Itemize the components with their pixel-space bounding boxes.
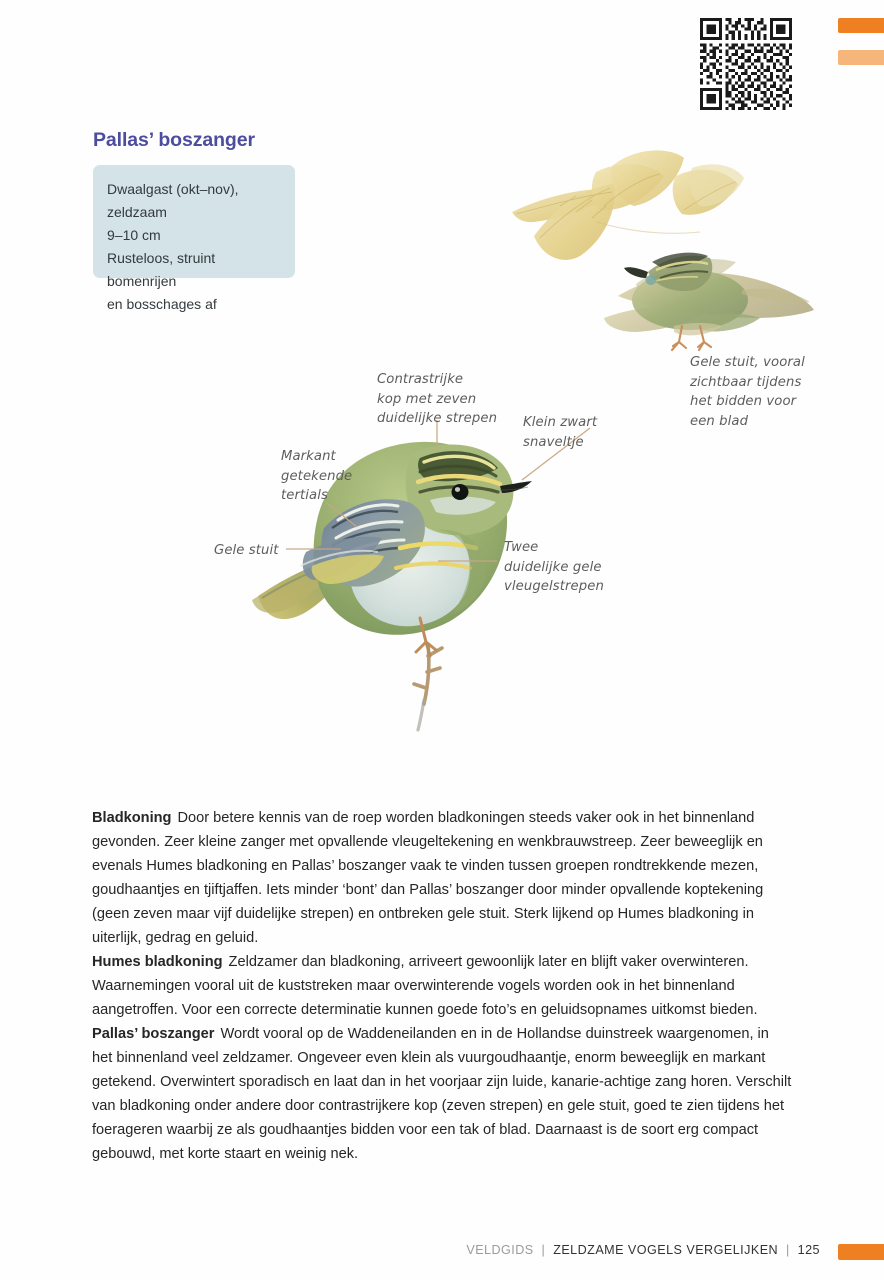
annotation-wingbars-line-1: Twee (504, 540, 538, 555)
annotation-rump-hovering: Gele stuit, vooral zichtbaar tijdens het… (690, 353, 805, 431)
info-line-size: 9–10 cm (107, 224, 281, 247)
species-info-box: Dwaalgast (okt–nov), zeldzaam 9–10 cm Ru… (93, 165, 295, 278)
annotation-head-stripes-line-1: Contrastrijke (377, 372, 463, 387)
paragraph-humes-bladkoning: Humes bladkoningZeldzamer dan bladkoning… (92, 950, 792, 1022)
annotation-wingbars-line-2: duidelijke gele (504, 560, 602, 575)
annotation-tertials-line-3: tertials (281, 488, 328, 503)
paragraph-bladkoning-body: Door betere kennis van de roep worden bl… (92, 810, 763, 946)
annotation-rump-hovering-line-4: een blad (690, 414, 748, 429)
footer-breadcrumb: VELDGIDS | ZELDZAME VOGELS VERGELIJKEN |… (466, 1243, 820, 1257)
annotation-tertials-line-2: getekende (281, 469, 352, 484)
paragraph-pallas-boszanger-lead: Pallas’ boszanger (92, 1026, 214, 1042)
annotation-tertials-line-1: Markant (281, 449, 336, 464)
page-footer: VELDGIDS | ZELDZAME VOGELS VERGELIJKEN |… (0, 1243, 884, 1263)
species-comparison-text: BladkoningDoor betere kennis van de roep… (92, 806, 792, 1166)
annotation-bill-line-1: Klein zwart (523, 415, 597, 430)
autumn-leaves-illustration (512, 150, 744, 259)
annotation-wingbars-line-3: vleugelstrepen (504, 579, 604, 594)
hovering-bird-illustration (604, 253, 814, 350)
annotation-tertials: Markant getekende tertials (281, 447, 352, 506)
paragraph-pallas-boszanger: Pallas’ boszangerWordt vooral op de Wadd… (92, 1022, 792, 1166)
paragraph-bladkoning-lead: Bladkoning (92, 810, 171, 826)
info-line-status: Dwaalgast (okt–nov), (107, 178, 281, 201)
annotation-bill: Klein zwart snaveltje (523, 413, 597, 452)
info-line-behaviour-2: en bosschages af (107, 293, 281, 316)
annotation-wingbars: Twee duidelijke gele vleugelstrepen (504, 538, 604, 597)
info-line-rarity: zeldzaam (107, 201, 281, 224)
page-title: Pallas’ boszanger (93, 129, 255, 152)
tab-orange-light[interactable] (838, 50, 884, 65)
annotation-rump-left-line-1: Gele stuit (214, 543, 279, 558)
footer-tab-orange (838, 1244, 884, 1260)
annotation-rump-hovering-line-3: het bidden voor (690, 394, 796, 409)
annotation-bill-line-2: snaveltje (523, 435, 584, 450)
footer-page-number: 125 (798, 1243, 820, 1257)
annotation-rump-hovering-line-1: Gele stuit, vooral (690, 355, 805, 370)
paragraph-humes-bladkoning-lead: Humes bladkoning (92, 954, 223, 970)
paragraph-bladkoning: BladkoningDoor betere kennis van de roep… (92, 806, 792, 950)
footer-guide-label: VELDGIDS (466, 1243, 533, 1257)
annotation-head-stripes-line-3: duidelijke strepen (377, 411, 497, 426)
annotation-rump-hovering-line-2: zichtbaar tijdens (690, 375, 801, 390)
tab-orange-dark[interactable] (838, 18, 884, 33)
footer-section-label: ZELDZAME VOGELS VERGELIJKEN (553, 1243, 778, 1257)
paragraph-pallas-boszanger-body: Wordt vooral op de Waddeneilanden en in … (92, 1026, 791, 1162)
annotation-head-stripes-line-2: kop met zeven (377, 392, 476, 407)
annotation-head-stripes: Contrastrijke kop met zeven duidelijke s… (377, 370, 497, 429)
page-canvas: Pallas’ boszanger Dwaalgast (okt–nov), z… (0, 0, 884, 1280)
info-line-behaviour-1: Rusteloos, struint bomenrijen (107, 247, 281, 293)
annotation-rump-left: Gele stuit (214, 541, 279, 561)
qr-code[interactable] (700, 18, 792, 110)
